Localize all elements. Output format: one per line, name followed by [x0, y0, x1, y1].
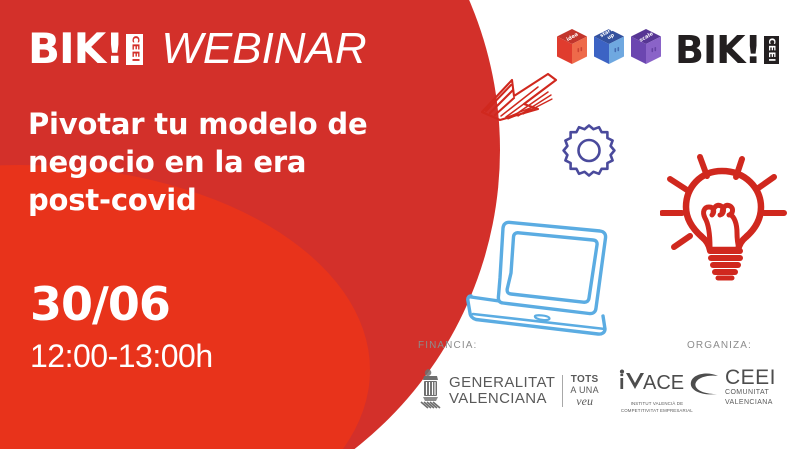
event-time: 12:00-13:00h — [30, 338, 213, 374]
tots-line-3: veu — [570, 395, 599, 407]
headline-line-3: post-covid — [28, 181, 418, 219]
corporate-bik-wordmark: BIK! — [675, 31, 761, 69]
cube-idea-icon: idea — [555, 28, 589, 66]
brand-header: BIK! CEEI WEBINAR — [28, 26, 367, 72]
headline-line-1: Pivotar tu modelo de — [28, 105, 418, 143]
generalitat-wordmark: GENERALITAT VALENCIANA — [449, 375, 555, 407]
left-content-panel: BIK! CEEI WEBINAR Pivotar tu modelo de n… — [0, 0, 430, 449]
headline-line-2: negocio en la era — [28, 143, 418, 181]
organiza-label: ORGANIZA: — [687, 340, 776, 351]
gear-icon — [558, 122, 620, 189]
event-date: 30/06 — [30, 278, 213, 330]
tots-a-una-veu-logo: TOTS A UNA veu — [570, 374, 599, 407]
ivace-subtitle-line-1: INSTITUT VALENCIÀ DE — [617, 401, 697, 406]
financia-group: FINANCIA: — [418, 340, 697, 414]
generalitat-line-1: GENERALITAT — [449, 375, 555, 391]
ceei-swoosh-icon — [687, 370, 723, 405]
corporate-bik-logo: idea start up — [555, 28, 779, 71]
organiza-group: ORGANIZA: CEEI COMUNITAT VALENCIANA — [687, 340, 776, 407]
corporate-ceei-badge-label: CEEI — [766, 37, 776, 61]
logo-divider — [562, 375, 563, 407]
ceei-badge: CEEI — [126, 34, 143, 65]
corporate-ceei-badge: CEEI — [764, 36, 779, 64]
svg-text:ACE: ACE — [643, 372, 684, 394]
ceei-sub-line-2: VALENCIANA — [725, 399, 776, 408]
financia-logo-row: GENERALITAT VALENCIANA TOTS A UNA veu i … — [418, 367, 697, 414]
ivace-logo: i ACE INSTITUT VALENCIÀ DE COMPETITIVITA… — [617, 368, 697, 414]
ceei-sub-line-1: COMUNITAT — [725, 389, 776, 398]
ceei-name: CEEI — [725, 367, 776, 388]
svg-text:i: i — [619, 372, 624, 394]
webinar-banner: BIK! CEEI WEBINAR Pivotar tu modelo de n… — [0, 0, 800, 449]
laptop-icon — [465, 218, 625, 341]
generalitat-line-2: VALENCIANA — [449, 391, 555, 407]
webinar-label: WEBINAR — [161, 27, 366, 71]
generalitat-crest-icon — [418, 367, 444, 414]
lightbulb-icon — [660, 145, 788, 290]
tots-line-1: TOTS — [570, 374, 599, 385]
cube-idea: idea — [555, 28, 589, 71]
cube-scale-icon: scale — [629, 28, 663, 66]
ivace-wordmark-icon: i ACE — [617, 368, 697, 394]
bik-wordmark: BIK! — [28, 28, 123, 70]
bik-logo: BIK! CEEI — [28, 28, 143, 70]
ceei-logo-row: CEEI COMUNITAT VALENCIANA — [687, 367, 776, 407]
footer-logos: FINANCIA: — [410, 340, 800, 440]
ceei-wordmark: CEEI COMUNITAT VALENCIANA — [725, 367, 776, 407]
ivace-subtitle-line-2: COMPETITIVITAT EMPRESARIAL — [617, 408, 697, 413]
ceei-badge-label: CEEI — [129, 36, 140, 63]
cube-start-up: start up — [592, 28, 626, 71]
cube-start-up-icon: start up — [592, 28, 626, 66]
cube-group: idea start up — [555, 28, 666, 71]
financia-label: FINANCIA: — [418, 340, 697, 351]
arrow-icon — [478, 68, 566, 129]
event-datetime: 30/06 12:00-13:00h — [30, 278, 213, 374]
cube-scale: scale — [629, 28, 663, 71]
page-title: Pivotar tu modelo de negocio en la era p… — [28, 105, 418, 219]
